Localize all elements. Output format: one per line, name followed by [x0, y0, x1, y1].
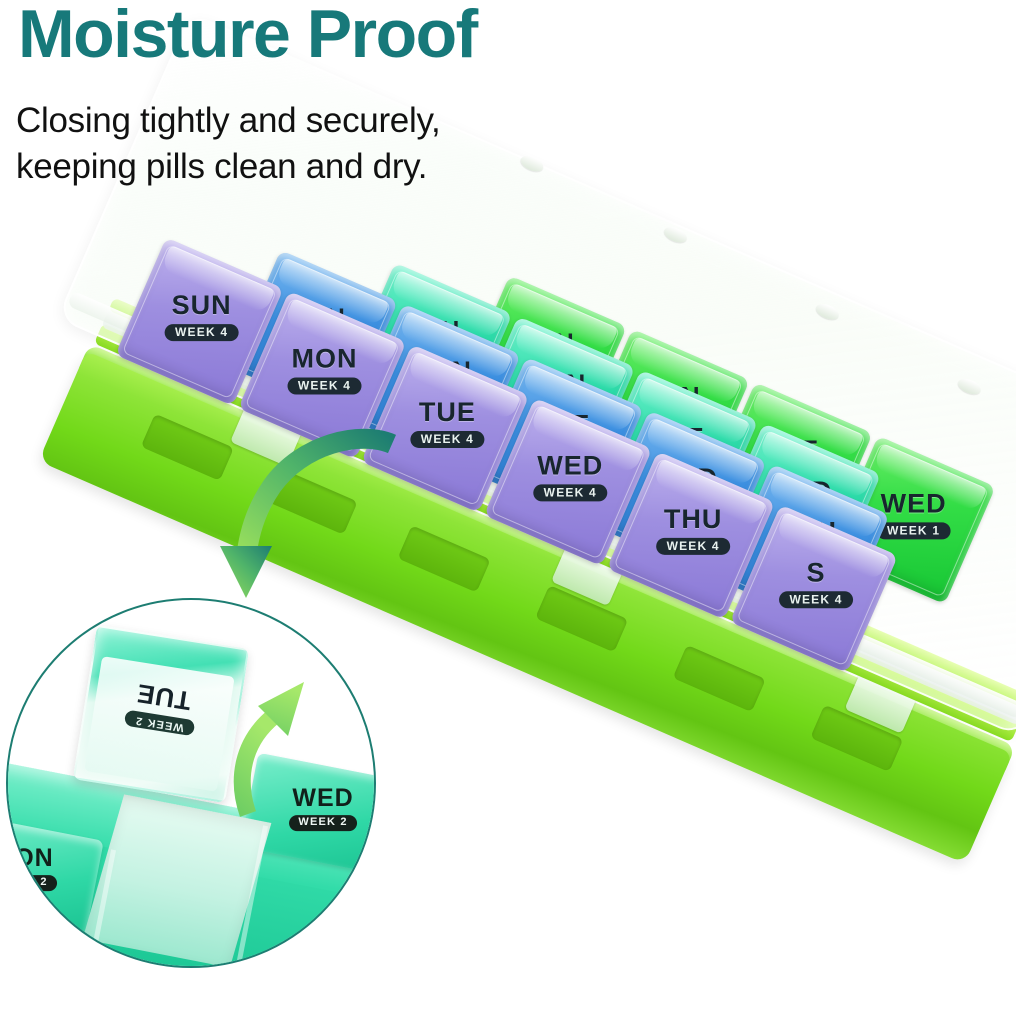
- week-label: WEEK 2: [6, 875, 57, 891]
- lid-open-arrow-icon: [212, 662, 342, 822]
- compartment-label: WED WEEK 4: [506, 452, 634, 501]
- day-label: TUE: [383, 399, 511, 426]
- day-label: THU: [629, 506, 757, 533]
- week-label: WEEK 1: [877, 522, 950, 539]
- compartment-label: SUN WEEK 4: [138, 292, 266, 341]
- day-label: S: [752, 559, 880, 586]
- day-label: WED: [506, 452, 634, 479]
- week-label: WEEK 4: [534, 484, 607, 501]
- subtitle-line-1: Closing tightly and securely,: [16, 98, 440, 144]
- inset-content: MON WEEK 2 WED WEEK 2 WEEK 2 TUE: [6, 598, 376, 968]
- day-label: SUN: [138, 292, 266, 319]
- subtitle-line-2: keeping pills clean and dry.: [16, 144, 440, 190]
- day-label: MON: [261, 346, 389, 373]
- callout-arrow-icon: [210, 420, 400, 620]
- week-label: WEEK 4: [657, 538, 730, 555]
- page-subtitle: Closing tightly and securely, keeping pi…: [16, 98, 440, 189]
- week-label: WEEK 4: [779, 591, 852, 608]
- compartment-label: TUE WEEK 4: [383, 399, 511, 448]
- week-label: WEEK 4: [288, 378, 361, 395]
- lid-bump-icon: [956, 376, 983, 397]
- lid-bump-icon: [518, 153, 545, 174]
- compartment-label: THU WEEK 4: [629, 506, 757, 555]
- lid-bump-icon: [662, 224, 689, 245]
- week-label: WEEK 4: [411, 431, 484, 448]
- compartment-label: MON WEEK 4: [261, 346, 389, 395]
- product-marketing-image: SUN WEEK 1 MON WEEK 1: [0, 0, 1016, 1024]
- magnified-detail-circle: MON WEEK 2 WED WEEK 2 WEEK 2 TUE: [6, 598, 376, 968]
- lid-bump-icon: [814, 301, 841, 322]
- week-label: WEEK 4: [165, 324, 238, 341]
- inset-label-left: MON WEEK 2: [6, 846, 97, 891]
- day-label: MON: [6, 846, 97, 871]
- page-title: Moisture Proof: [18, 0, 477, 70]
- compartment-label: S WEEK 4: [752, 559, 880, 608]
